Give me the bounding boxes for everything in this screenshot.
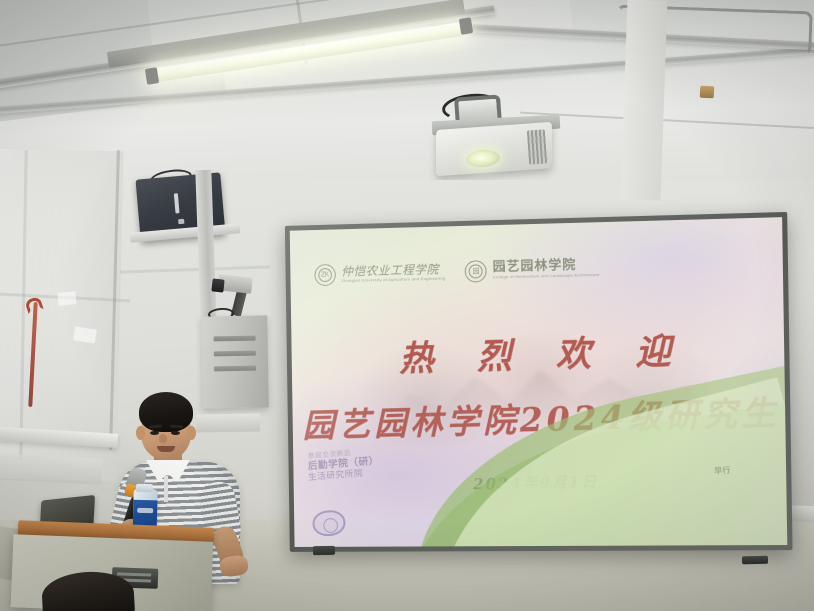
university-logo-text: 仲恺农业工程学院 Zhongkai University of Agricult… bbox=[341, 263, 445, 284]
speaker-indicator bbox=[174, 194, 180, 214]
right-wall-column bbox=[621, 0, 668, 201]
wall-fixture bbox=[700, 86, 715, 99]
presenter-right-hand bbox=[219, 554, 250, 578]
presenter-placket bbox=[164, 476, 168, 502]
college-logo-text: 园艺园林学院 College of Horticulture and Lands… bbox=[493, 258, 600, 280]
speaker-indicator bbox=[178, 219, 184, 225]
university-seal-icon: ZK bbox=[314, 264, 336, 286]
college-name-cn: 园艺园林学院 bbox=[493, 258, 600, 274]
wall-note bbox=[73, 327, 97, 344]
university-seal-glyph: ZK bbox=[321, 271, 329, 278]
slide-stamp-block: 参观交流新后 后勤学院（研） 生活研究所院 bbox=[307, 447, 424, 534]
wall-note bbox=[57, 291, 76, 306]
tube-end-cap bbox=[145, 67, 159, 85]
college-seal-icon: 园 bbox=[465, 260, 487, 282]
presenter-hair bbox=[139, 392, 193, 432]
university-name-en: Zhongkai University of Agriculture and E… bbox=[341, 277, 445, 283]
tube-end-cap bbox=[459, 17, 473, 35]
college-seal-glyph: 园 bbox=[473, 266, 480, 276]
wall-ledge bbox=[0, 453, 103, 485]
university-name-cn: 仲恺农业工程学院 bbox=[341, 263, 445, 277]
projection-screen[interactable]: ZK 仲恺农业工程学院 Zhongkai University of Agric… bbox=[285, 212, 793, 552]
projector-vent bbox=[527, 129, 547, 164]
slide-corner-mark: 早行 bbox=[713, 465, 730, 477]
cabinet-vent bbox=[214, 365, 256, 371]
slide-logo-row: ZK 仲恺农业工程学院 Zhongkai University of Agric… bbox=[314, 247, 667, 294]
screen-mount-bracket bbox=[742, 556, 768, 564]
cabinet-vent bbox=[214, 351, 256, 357]
classroom-photo-scene: ZK 仲恺农业工程学院 Zhongkai University of Agric… bbox=[0, 0, 814, 611]
water-bottle-cap bbox=[136, 484, 153, 492]
presenter-eye bbox=[150, 431, 159, 435]
presenter-ear bbox=[136, 426, 145, 440]
screen-mount-bracket bbox=[313, 546, 335, 555]
slide-surface: ZK 仲恺农业工程学院 Zhongkai University of Agric… bbox=[290, 217, 788, 547]
presenter-nose bbox=[159, 434, 167, 443]
zhongkai-university-logo: ZK 仲恺农业工程学院 Zhongkai University of Agric… bbox=[314, 261, 445, 286]
presenter-ear bbox=[187, 426, 196, 440]
college-name-en: College of Horticulture and Landscape Ar… bbox=[493, 274, 600, 280]
camera-lens-icon bbox=[211, 278, 224, 292]
purple-round-seal-icon bbox=[311, 509, 346, 538]
presenter-eyebrow bbox=[170, 425, 183, 429]
presenter-eye bbox=[171, 431, 180, 435]
ceiling-seam bbox=[520, 112, 814, 131]
horticulture-college-logo: 园 园艺园林学院 College of Horticulture and Lan… bbox=[465, 257, 600, 282]
cabinet-vent bbox=[213, 336, 255, 342]
